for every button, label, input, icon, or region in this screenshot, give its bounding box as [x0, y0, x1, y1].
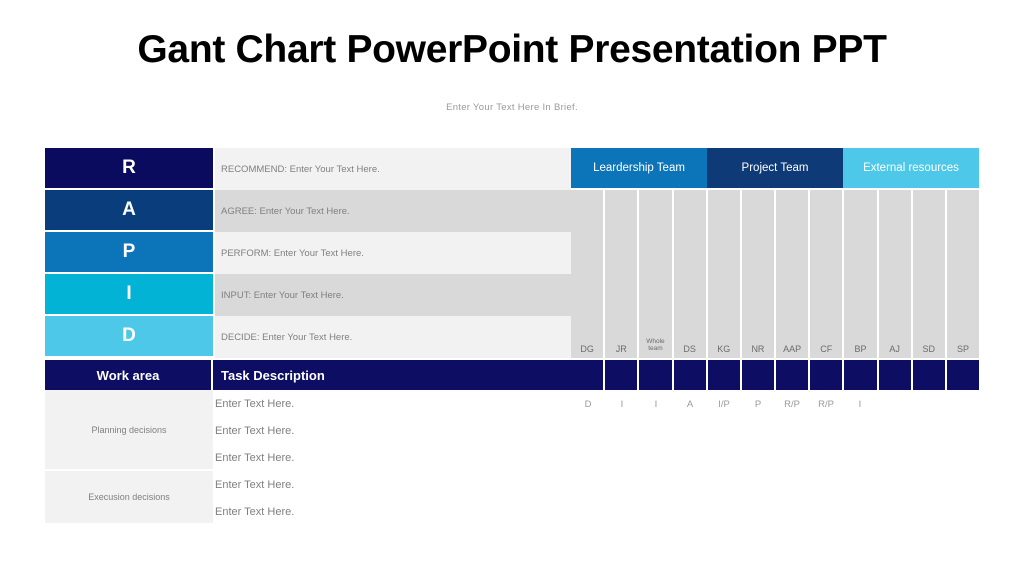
rapid-code-cell: A [673, 395, 707, 413]
team-group-header: External resources [843, 148, 979, 190]
work-area-group: Execusion decisions [45, 471, 213, 525]
task-description-cell: Enter Text Here. [215, 444, 571, 471]
rapid-letter-a: A [45, 190, 213, 232]
participant-column-label: CF [810, 345, 842, 354]
rapid-code-cell: I [843, 395, 877, 413]
header-bar-column [879, 360, 913, 390]
header-bar-column [674, 360, 708, 390]
rapid-description: PERFORM: Enter Your Text Here. [215, 232, 571, 274]
rapid-code-cell: I [605, 395, 639, 413]
rapid-code-cell: R/P [775, 395, 809, 413]
team-group-header: Project Team [707, 148, 843, 190]
rapid-description: AGREE: Enter Your Text Here. [215, 190, 571, 232]
header-bar-column [708, 360, 742, 390]
participant-column: KG [708, 190, 742, 358]
table-header-bar: Work area Task Description [45, 360, 979, 390]
rapid-code-cell: I/P [707, 395, 741, 413]
header-bar-column [605, 360, 639, 390]
rapid-code-cell: R/P [809, 395, 843, 413]
rapid-letter-r: R [45, 148, 213, 190]
participant-column: JR [605, 190, 639, 358]
participant-column-label: JR [605, 345, 637, 354]
header-bar-column [776, 360, 810, 390]
task-description-cell: Enter Text Here. [215, 390, 571, 417]
participant-column-label: SD [913, 345, 945, 354]
task-description-cell: Enter Text Here. [215, 498, 571, 525]
participant-column-label: BP [844, 345, 876, 354]
header-bar-column [913, 360, 947, 390]
team-group-header: Leardership Team [571, 148, 707, 190]
rapid-matrix-table: RRECOMMEND: Enter Your Text Here.AAGREE:… [45, 148, 979, 532]
header-bar-column [742, 360, 776, 390]
participant-column: AAP [776, 190, 810, 358]
task-body-section: Planning decisionsExecusion decisionsEnt… [45, 390, 979, 532]
participant-column-label: AJ [879, 345, 911, 354]
header-bar-column [571, 360, 605, 390]
rapid-description: RECOMMEND: Enter Your Text Here. [215, 148, 571, 190]
participant-column-label: SP [947, 345, 979, 354]
work-area-header: Work area [45, 360, 213, 390]
participant-column: DS [674, 190, 708, 358]
participant-column: AJ [879, 190, 913, 358]
header-bar-column [639, 360, 673, 390]
participant-column-label: DS [674, 345, 706, 354]
task-description-cell: Enter Text Here. [215, 417, 571, 444]
work-area-group: Planning decisions [45, 390, 213, 471]
participant-column: SP [947, 190, 979, 358]
rapid-code-cell: D [571, 395, 605, 413]
participant-column: DG [571, 190, 605, 358]
rapid-description: DECIDE: Enter Your Text Here. [215, 316, 571, 358]
header-bar-column [810, 360, 844, 390]
rapid-description: INPUT: Enter Your Text Here. [215, 274, 571, 316]
slide-subtitle: Enter Your Text Here In Brief. [0, 102, 1024, 113]
participant-column-label: NR [742, 345, 774, 354]
participant-column: CF [810, 190, 844, 358]
rapid-code-cell: I [639, 395, 673, 413]
task-description-header: Task Description [215, 360, 571, 390]
participant-column-grid: DGJRWhole teamDSKGNRAAPCFBPAJSDSP [571, 190, 979, 358]
header-bar-column [844, 360, 878, 390]
participant-column: NR [742, 190, 776, 358]
rapid-letter-i: I [45, 274, 213, 316]
rapid-letter-p: P [45, 232, 213, 274]
participant-column-label: AAP [776, 345, 808, 354]
participant-column-label: KG [708, 345, 740, 354]
rapid-letter-d: D [45, 316, 213, 358]
task-description-cell: Enter Text Here. [215, 471, 571, 498]
participant-column-label: DG [571, 345, 603, 354]
rapid-code-cell: P [741, 395, 775, 413]
slide-title: Gant Chart PowerPoint Presentation PPT [0, 28, 1024, 72]
header-bar-columns [571, 360, 979, 390]
participant-column-label: Whole team [639, 339, 671, 353]
header-bar-column [947, 360, 979, 390]
participant-column: BP [844, 190, 878, 358]
participant-column: Whole team [639, 190, 673, 358]
participant-column: SD [913, 190, 947, 358]
